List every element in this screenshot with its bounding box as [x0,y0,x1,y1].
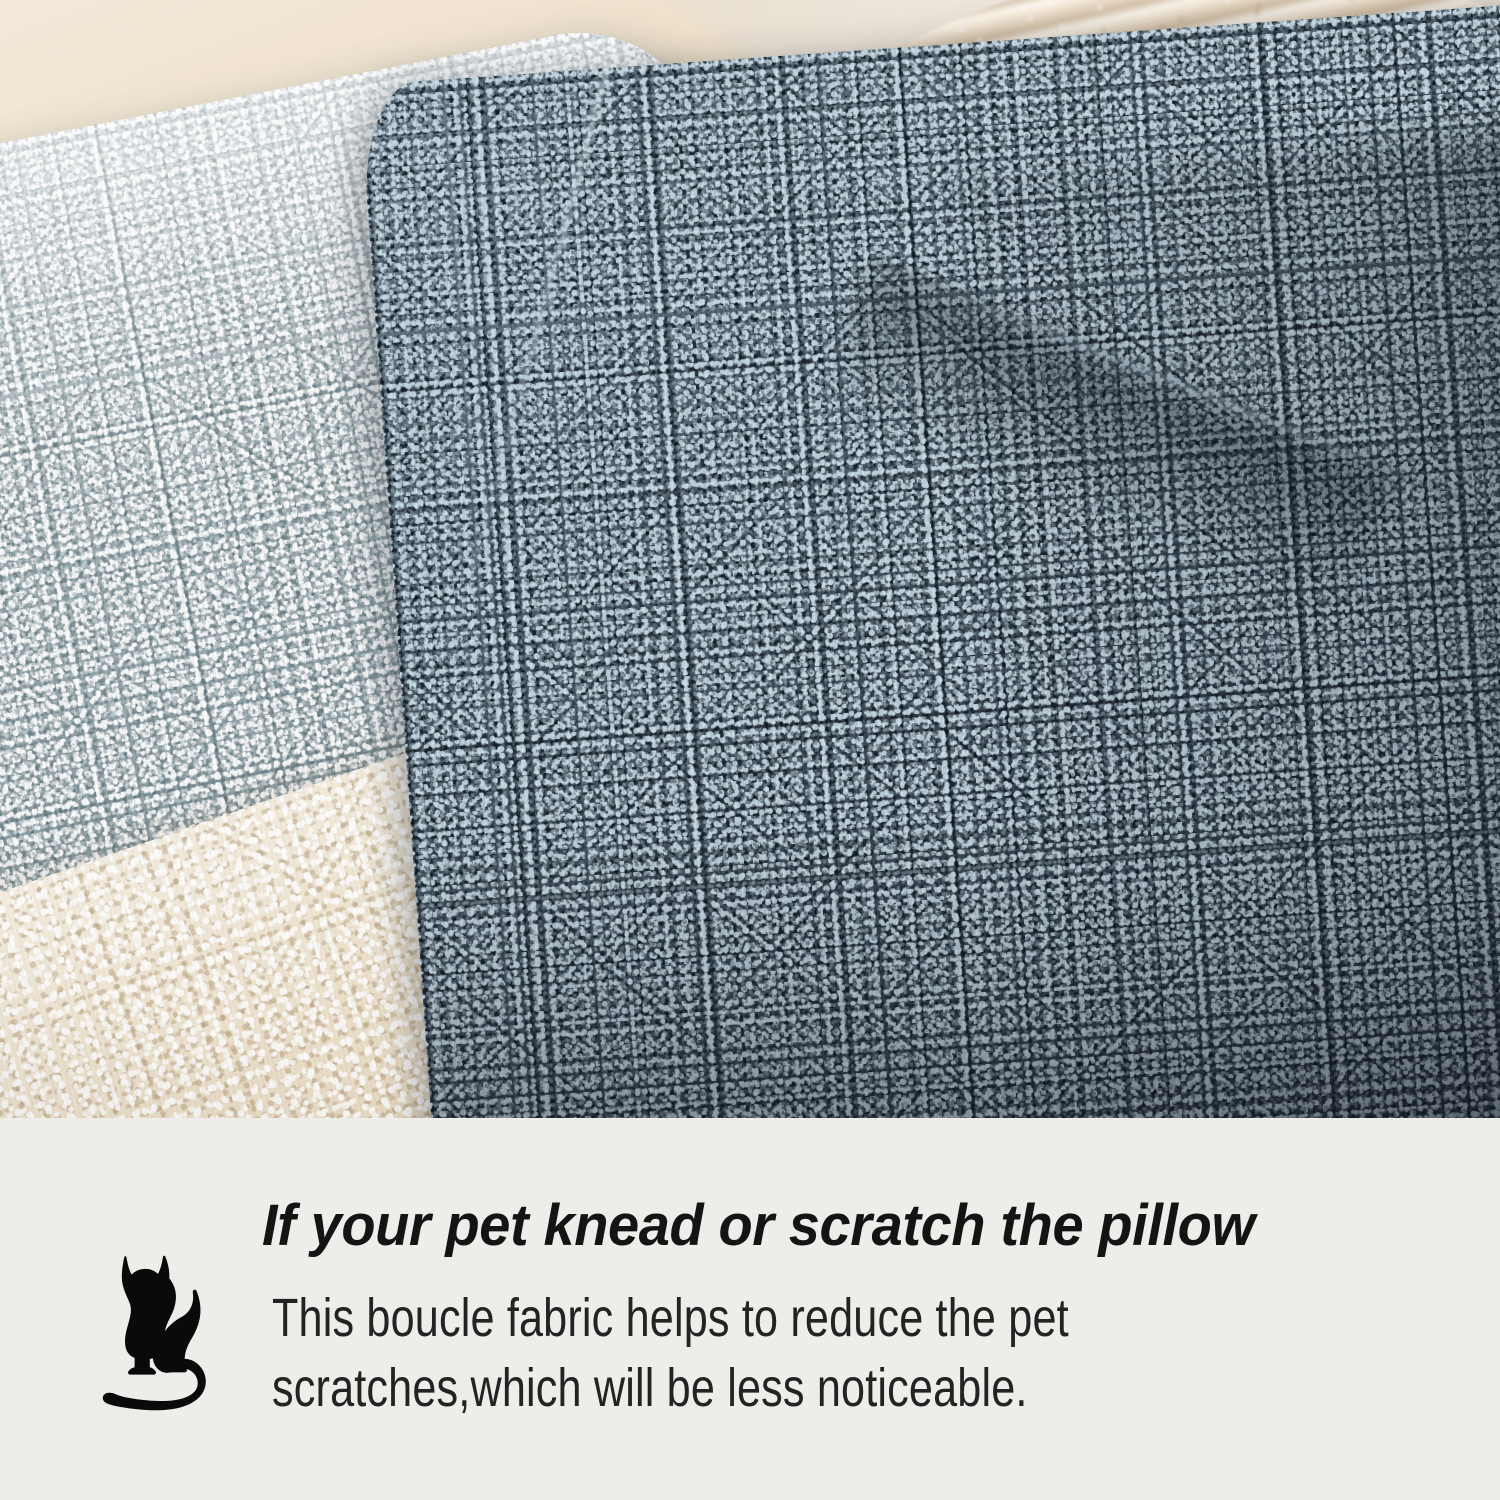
product-photo [0,0,1500,1118]
body-line-1: This boucle fabric helps to reduce the p… [272,1283,1152,1353]
dark-boucle-pillow [359,0,1500,1118]
product-feature-image: If your pet knead or scratch the pillow … [0,0,1500,1500]
feature-headline: If your pet knead or scratch the pillow [262,1196,1401,1255]
feature-body-copy: This boucle fabric helps to reduce the p… [272,1283,1152,1423]
body-line-2: scratches,which will be less noticeable. [272,1353,1152,1423]
sitting-cat-silhouette-icon [96,1250,226,1415]
feature-text-panel: If your pet knead or scratch the pillow … [0,1118,1500,1500]
